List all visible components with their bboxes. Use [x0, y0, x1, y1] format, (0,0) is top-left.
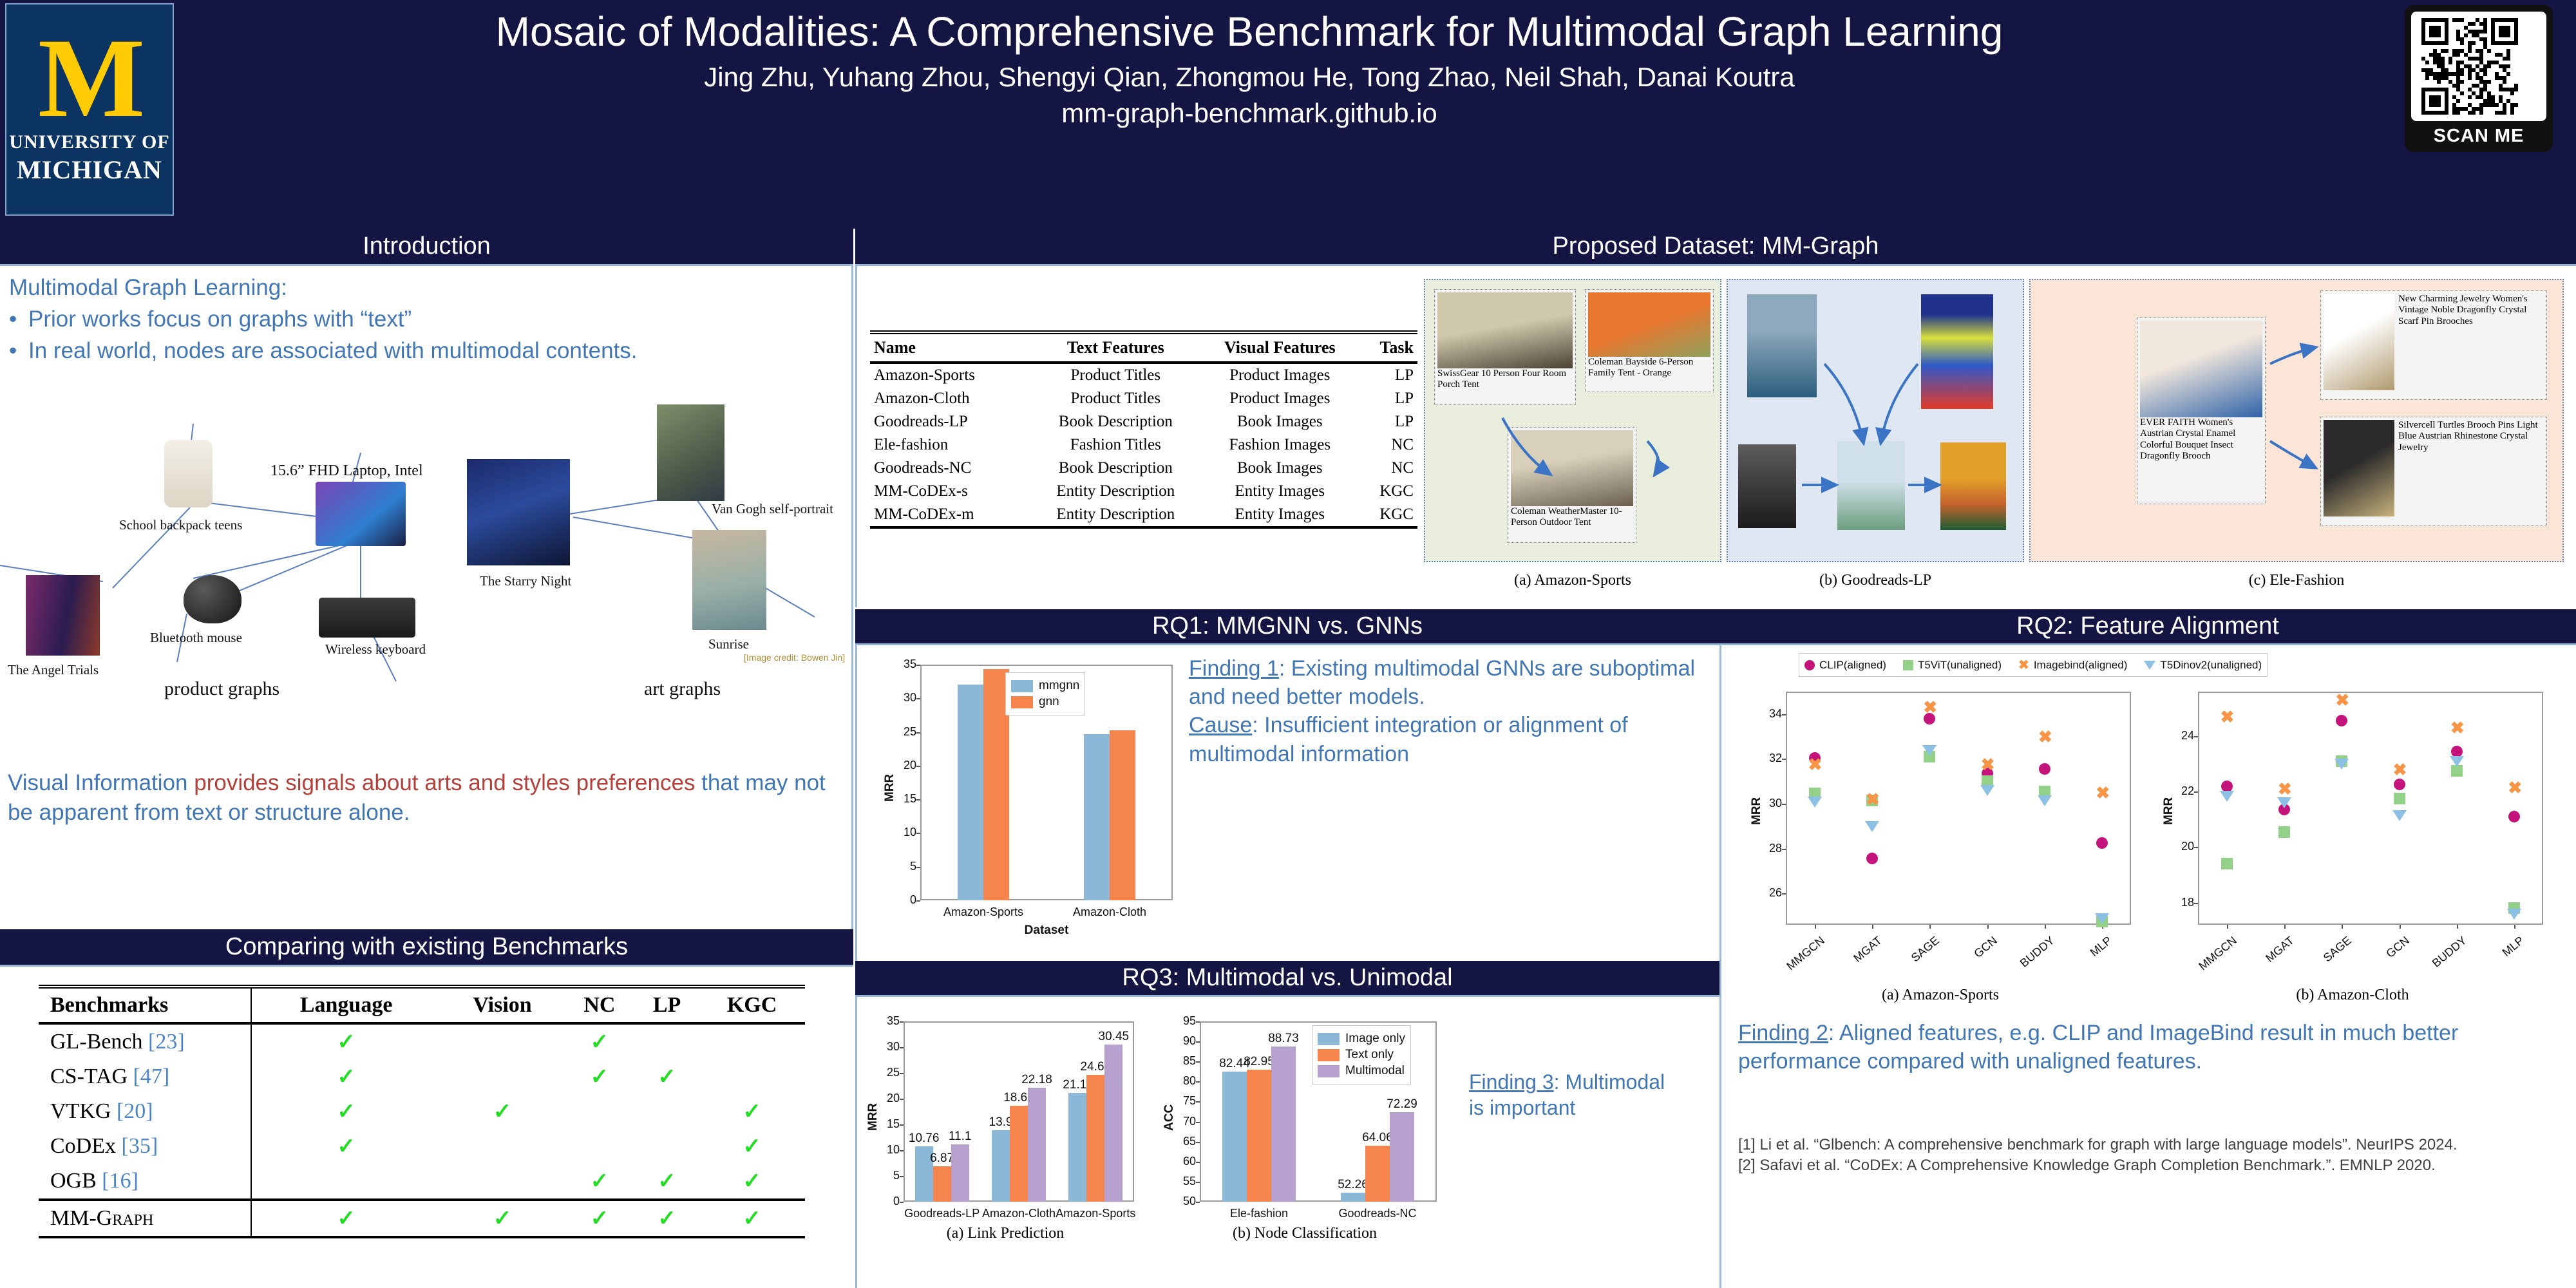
y-tick-mark — [2194, 736, 2198, 737]
table-cell-empty — [440, 1059, 564, 1094]
y-tick-mark — [900, 1047, 904, 1048]
table-cell-empty — [440, 1129, 564, 1164]
data-point-cross: ✖ — [1808, 756, 1823, 773]
x-tick-mark — [2457, 925, 2458, 929]
dataset-name: Goodreads-NC — [870, 457, 1031, 480]
node-label-starry-night: The Starry Night — [480, 573, 571, 589]
panel-caption: (a) Amazon-Sports — [1425, 572, 1720, 589]
dataset-text-features: Fashion Titles — [1031, 433, 1200, 457]
citation-ref[interactable]: [16] — [102, 1169, 138, 1193]
qr-code-icon — [2411, 12, 2546, 121]
table-row: VTKG [20] ✓✓✓ — [39, 1094, 805, 1129]
y-tick-mark — [1782, 714, 1786, 715]
bar — [951, 1144, 969, 1202]
bar — [1271, 1046, 1296, 1202]
y-tick-label: 26 — [1756, 886, 1782, 900]
intro-bullet-2: • In real world, nodes are associated wi… — [9, 337, 840, 366]
y-tick-mark — [916, 766, 920, 767]
y-tick-label: 30 — [875, 1040, 900, 1054]
table-row: CS-TAG [47] ✓✓✓ — [39, 1059, 805, 1094]
dataset-task: NC — [1359, 433, 1417, 457]
table-cell-empty — [251, 1164, 440, 1200]
col-task: Task — [1359, 332, 1417, 363]
node-image-van-gogh — [657, 404, 724, 501]
table-cell-check: ✓ — [564, 1200, 635, 1237]
check-icon: ✓ — [337, 1100, 355, 1124]
panel-caption: (b) Goodreads-LP — [1728, 572, 2023, 589]
y-tick-label: 25 — [892, 725, 916, 739]
dataset-task: KGC — [1359, 480, 1417, 503]
table-cell-empty — [440, 1023, 564, 1059]
y-axis-label: MRR — [883, 774, 897, 802]
finding-3-label: Finding 3 — [1469, 1070, 1554, 1094]
y-tick-label: 34 — [1756, 707, 1782, 721]
y-tick-mark — [1782, 804, 1786, 805]
x-tick-mark — [2342, 925, 2343, 929]
x-tick-label: GCN — [2363, 934, 2412, 978]
data-point-triangle — [2334, 759, 2349, 770]
dataset-text-features: Book Description — [1031, 410, 1200, 433]
bar — [1247, 1070, 1271, 1202]
table-row: MM-CoDEx-m Entity Description Entity Ima… — [870, 503, 1417, 527]
comparing-benchmarks-body: Benchmarks Language Vision NC LP KGC GL-… — [0, 967, 853, 1288]
dataset-task: LP — [1359, 363, 1417, 387]
bar-value-label: 30.45 — [1095, 1030, 1132, 1044]
dataset-text-features: Entity Description — [1031, 503, 1200, 527]
bullet-dot-icon: • — [9, 305, 28, 334]
dataset-text-features: Product Titles — [1031, 363, 1200, 387]
table-cell-check: ✓ — [251, 1129, 440, 1164]
panel-arrows — [1425, 280, 1720, 561]
table-bottom-rule — [870, 527, 1417, 529]
table-cell-check: ✓ — [440, 1200, 564, 1237]
dataset-task: LP — [1359, 387, 1417, 410]
bar — [1365, 1146, 1390, 1202]
table-bottom-rule — [39, 1237, 805, 1239]
y-tick-mark — [916, 698, 920, 699]
table-row: MM-CoDEx-s Entity Description Entity Ima… — [870, 480, 1417, 503]
legend-swatch — [1011, 696, 1033, 708]
rq2-legend: CLIP(aligned)T5ViT(unaligned)✖Imagebind(… — [1799, 653, 2268, 677]
node-image-laptop — [316, 482, 406, 546]
table-cell-check: ✓ — [699, 1200, 805, 1237]
bar — [1068, 1093, 1086, 1202]
benchmark-name: CoDEx [35] — [39, 1129, 251, 1164]
dataset-task: KGC — [1359, 503, 1417, 527]
data-point-cross: ✖ — [2450, 719, 2465, 736]
data-point-triangle — [1865, 821, 1879, 832]
dataset-visual-features: Product Images — [1200, 363, 1359, 387]
x-tick-label: BUDDY — [2009, 934, 2058, 978]
table-cell-empty — [564, 1129, 635, 1164]
y-tick-label: 18 — [2168, 896, 2194, 909]
dataset-name: MM-CoDEx-m — [870, 503, 1031, 527]
y-axis-label: ACC — [1162, 1104, 1177, 1131]
data-point-cross: ✖ — [1866, 791, 1880, 808]
chart-rq3-node-classification: 5055606570758085909582.4482.9588.73Ele-f… — [1166, 1010, 1443, 1242]
plot-area — [1786, 692, 2131, 925]
legend-swatch — [1318, 1033, 1340, 1045]
legend-label: Imagebind(aligned) — [2034, 659, 2128, 672]
bar — [958, 685, 983, 900]
introduction-body: Multimodal Graph Learning: • Prior works… — [0, 266, 853, 929]
table-cell-check: ✓ — [699, 1094, 805, 1129]
bar — [1390, 1112, 1414, 1202]
data-point-triangle — [2038, 795, 2052, 806]
y-tick-label: 95 — [1171, 1014, 1196, 1028]
dataset-visual-features: Book Images — [1200, 457, 1359, 480]
dataset-text-features: Product Titles — [1031, 387, 1200, 410]
table-cell-empty — [635, 1129, 699, 1164]
references-list: [1] Li et al. “Glbench: A comprehensive … — [1738, 1135, 2566, 1177]
col-name: Name — [870, 332, 1031, 363]
poster-header: M UNIVERSITY OF MICHIGAN Mosaic of Modal… — [0, 0, 2576, 229]
table-row: Amazon-Sports Product Titles Product Ima… — [870, 363, 1417, 387]
claim-part-2: provides signals about arts and styles p… — [194, 770, 701, 795]
bar — [1028, 1088, 1046, 1202]
data-point-triangle — [2277, 797, 2291, 808]
y-tick-mark — [916, 900, 920, 902]
dataset-visual-features: Fashion Images — [1200, 433, 1359, 457]
panel-arrows — [2031, 280, 2562, 561]
finding-2-text: Finding 2: Aligned features, e.g. CLIP a… — [1738, 1019, 2562, 1075]
x-tick-label: MGAT — [2249, 934, 2297, 978]
rq1-body: 05101520253035Amazon-SportsAmazon-ClothM… — [855, 645, 1719, 961]
y-tick-mark — [916, 799, 920, 800]
col-text-features: Text Features — [1031, 332, 1200, 363]
data-point-cross: ✖ — [2393, 761, 2407, 778]
col-vision: Vision — [440, 987, 564, 1023]
section-header-rq1: RQ1: MMGNN vs. GNNs — [855, 609, 1719, 645]
dataset-name: Goodreads-LP — [870, 410, 1031, 433]
table-cell-check: ✓ — [699, 1129, 805, 1164]
node-image-mouse — [184, 575, 241, 623]
chart-rq3-link-prediction: 0510152025303510.766.8711.1Goodreads-LP1… — [870, 1010, 1141, 1242]
left-column: Introduction Multimodal Graph Learning: … — [0, 229, 853, 1288]
benchmarks-table: Benchmarks Language Vision NC LP KGC GL-… — [39, 985, 805, 1239]
y-tick-mark — [1196, 1162, 1200, 1163]
citation-ref[interactable]: [47] — [133, 1065, 170, 1088]
legend-item: Multimodal — [1318, 1064, 1405, 1078]
chart-rq1-mmgnn-vs-gnn: 05101520253035Amazon-SportsAmazon-ClothM… — [883, 653, 1179, 943]
y-tick-mark — [916, 867, 920, 868]
y-tick-label: 55 — [1171, 1175, 1196, 1188]
bar — [933, 1166, 951, 1202]
chart-rq2-amazon-cloth: 18 20 22 24 MMGCN✖MGAT✖SAGE✖GCN✖BUDDY✖ML… — [2153, 684, 2552, 1006]
qr-label: SCAN ME — [2411, 121, 2546, 151]
citation-ref[interactable]: [23] — [148, 1030, 185, 1054]
data-point-cross: ✖ — [1923, 699, 1937, 715]
title-block: Mosaic of Modalities: A Comprehensive Be… — [193, 9, 2306, 129]
y-tick-mark — [1782, 893, 1786, 895]
legend-item: T5Dinov2(unaligned) — [2144, 659, 2262, 672]
data-point-cross: ✖ — [1981, 756, 1995, 773]
data-point-square — [2394, 793, 2405, 804]
x-tick-label: MGAT — [1837, 934, 1885, 978]
check-icon: ✓ — [743, 1135, 761, 1159]
check-icon: ✓ — [337, 1030, 355, 1054]
y-tick-label: 50 — [1171, 1195, 1196, 1208]
y-tick-mark — [1782, 849, 1786, 850]
y-tick-label: 35 — [892, 658, 916, 671]
y-axis-label: MRR — [2162, 797, 2176, 825]
y-tick-mark — [1196, 1021, 1200, 1023]
check-icon: ✓ — [591, 1065, 609, 1089]
check-icon: ✓ — [658, 1207, 676, 1231]
check-icon: ✓ — [658, 1065, 676, 1089]
panel-arrows — [1728, 280, 2023, 561]
dataset-task: LP — [1359, 410, 1417, 433]
dataset-name: MM-CoDEx-s — [870, 480, 1031, 503]
data-point-circle — [2394, 779, 2405, 790]
dataset-name: Amazon-Cloth — [870, 387, 1031, 410]
y-tick-label: 80 — [1171, 1074, 1196, 1088]
section-header-rq2: RQ2: Feature Alignment — [1719, 609, 2576, 645]
y-tick-label: 10 — [892, 826, 916, 839]
y-tick-label: 0 — [892, 893, 916, 907]
y-tick-mark — [900, 1021, 904, 1023]
dataset-text-features: Book Description — [1031, 457, 1200, 480]
logo-line2: MICHIGAN — [9, 155, 169, 185]
data-point-cross: ✖ — [2221, 708, 2235, 725]
y-tick-label: 60 — [1171, 1155, 1196, 1168]
poster-title: Mosaic of Modalities: A Comprehensive Be… — [193, 9, 2306, 54]
x-tick-label: GCN — [1951, 934, 2000, 978]
y-tick-label: 5 — [875, 1169, 900, 1182]
col-language: Language — [251, 987, 440, 1023]
check-icon: ✓ — [591, 1207, 609, 1231]
introduction-claim: Visual Information provides signals abou… — [8, 768, 845, 827]
table-cell-empty — [699, 1023, 805, 1059]
data-point-triangle — [2450, 756, 2464, 767]
node-image-starry-night — [467, 459, 570, 565]
col-visual-features: Visual Features — [1200, 332, 1359, 363]
x-tick-label: Amazon-Sports — [1046, 1207, 1146, 1220]
legend-item: Image only — [1318, 1032, 1405, 1046]
dataset-panel-ele-fashion: EVER FAITH Women's Austrian Crystal Enam… — [2029, 279, 2564, 562]
data-point-cross: ✖ — [2508, 779, 2522, 796]
legend-swatch — [1011, 680, 1033, 692]
dataset-visual-features: Entity Images — [1200, 503, 1359, 527]
x-tick-mark — [2227, 925, 2228, 929]
poster-authors: Jing Zhu, Yuhang Zhou, Shengyi Qian, Zho… — [193, 62, 2306, 93]
table-cell-empty — [699, 1059, 805, 1094]
x-tick-label: SAGE — [2306, 934, 2354, 978]
section-header-introduction: Introduction — [0, 229, 853, 266]
node-label-backpack: School backpack teens — [119, 517, 242, 533]
legend-marker-circle — [1804, 660, 1815, 670]
y-tick-mark — [900, 1124, 904, 1126]
data-point-triangle — [2392, 810, 2407, 821]
node-image-keyboard — [319, 598, 415, 638]
data-point-triangle — [2095, 913, 2109, 924]
y-axis-label: MRR — [1750, 797, 1764, 825]
table-cell-check: ✓ — [251, 1023, 440, 1059]
bar-value-label: 11.1 — [942, 1130, 978, 1144]
data-point-circle — [2039, 763, 2050, 775]
bullet-dot-icon: • — [9, 337, 28, 366]
legend-marker-cross: ✖ — [2018, 657, 2029, 673]
chart-legend: mmgnn gnn — [1005, 672, 1085, 715]
university-logo: M UNIVERSITY OF MICHIGAN — [5, 3, 174, 216]
rq2-body: CLIP(aligned)T5ViT(unaligned)✖Imagebind(… — [1719, 645, 2576, 1288]
legend-marker-square — [1903, 660, 1913, 670]
legend-label: CLIP(aligned) — [1819, 659, 1886, 672]
michigan-m-icon: M — [38, 29, 141, 129]
table-row: OGB [16] ✓✓✓ — [39, 1164, 805, 1200]
node-label-angel-trials: The Angel Trials — [8, 662, 99, 678]
finding-2-label: Finding 2 — [1738, 1021, 1828, 1045]
y-tick-mark — [900, 1099, 904, 1100]
y-tick-mark — [916, 665, 920, 666]
cause-label: Cause — [1189, 713, 1252, 737]
x-tick-mark — [1929, 925, 1931, 929]
table-cell-check: ✓ — [564, 1164, 635, 1200]
legend-item: mmgnn — [1011, 679, 1079, 693]
dataset-name: Amazon-Sports — [870, 363, 1031, 387]
node-image-sunrise — [692, 530, 766, 630]
data-point-cross: ✖ — [2096, 784, 2110, 801]
qr-code-block[interactable]: SCAN ME — [2405, 5, 2553, 152]
legend-label: mmgnn — [1039, 679, 1079, 693]
table-row: Goodreads-LP Book Description Book Image… — [870, 410, 1417, 433]
col-benchmarks: Benchmarks — [39, 987, 251, 1023]
table-cell-empty — [564, 1094, 635, 1129]
y-tick-label: 0 — [875, 1195, 900, 1208]
citation-ref[interactable]: [35] — [122, 1134, 158, 1158]
check-icon: ✓ — [493, 1207, 512, 1231]
table-row-highlight: MM-Graph ✓✓✓✓✓ — [39, 1200, 805, 1237]
bar-value-label: 88.73 — [1262, 1032, 1305, 1046]
table-cell-check: ✓ — [699, 1164, 805, 1200]
y-tick-label: 90 — [1171, 1034, 1196, 1048]
intro-bullet-1: • Prior works focus on graphs with “text… — [9, 305, 840, 334]
section-header-comparing: Comparing with existing Benchmarks — [0, 929, 853, 967]
y-tick-mark — [1196, 1101, 1200, 1103]
plot-area — [2198, 692, 2543, 925]
table-cell-empty — [440, 1164, 564, 1200]
y-tick-label: 65 — [1171, 1135, 1196, 1148]
legend-label: Image only — [1345, 1032, 1405, 1046]
dataset-task: NC — [1359, 457, 1417, 480]
y-tick-mark — [2194, 791, 2198, 793]
multimodal-graph-illustration: The Angel Trials School backpack teens 1… — [0, 404, 853, 765]
y-tick-label: 22 — [2168, 784, 2194, 798]
table-row: GL-Bench [23] ✓✓ — [39, 1023, 805, 1059]
x-tick-mark — [1815, 925, 1816, 929]
table-row: Amazon-Cloth Product Titles Product Imag… — [870, 387, 1417, 410]
x-tick-label: MLP — [2067, 934, 2115, 978]
legend-marker-triangle — [2144, 661, 2155, 670]
legend-label: Text only — [1345, 1048, 1394, 1062]
table-cell-check: ✓ — [251, 1059, 440, 1094]
legend-label: T5ViT(unaligned) — [1918, 659, 2002, 672]
poster-url: mm-graph-benchmark.github.io — [193, 98, 2306, 129]
dataset-visual-features: Book Images — [1200, 410, 1359, 433]
node-label-laptop: 15.6” FHD Laptop, Intel — [270, 462, 423, 480]
bar — [1110, 730, 1135, 900]
node-label-keyboard: Wireless keyboard — [325, 641, 426, 658]
reference-2: [2] Safavi et al. “CoDEx: A Comprehensiv… — [1738, 1155, 2566, 1176]
benchmark-name: CS-TAG [47] — [39, 1059, 251, 1094]
x-tick-mark — [2514, 925, 2515, 929]
y-tick-mark — [2194, 903, 2198, 904]
y-tick-mark — [900, 1073, 904, 1074]
y-tick-mark — [916, 833, 920, 834]
bar — [1010, 1106, 1028, 1202]
chart-caption: (b) Amazon-Cloth — [2153, 987, 2552, 1004]
dataset-visual-features: Product Images — [1200, 387, 1359, 410]
dataset-table: Name Text Features Visual Features Task … — [870, 330, 1417, 529]
bar — [992, 1130, 1010, 1202]
y-tick-label: 20 — [892, 759, 916, 772]
chart-caption: (a) Amazon-Sports — [1741, 987, 2140, 1004]
check-icon: ✓ — [337, 1135, 355, 1159]
y-tick-label: 32 — [1756, 752, 1782, 765]
y-tick-mark — [1196, 1142, 1200, 1143]
y-tick-mark — [1196, 1041, 1200, 1043]
legend-item: T5ViT(unaligned) — [1903, 659, 2002, 672]
bar — [1222, 1072, 1247, 1202]
x-tick-label: MMGCN — [2191, 934, 2239, 978]
node-image-angel-trials — [26, 575, 100, 656]
y-tick-mark — [1196, 1061, 1200, 1063]
x-tick-label: SAGE — [1894, 934, 1942, 978]
chart-rq2-amazon-sports: 26 28 30 32 34 MMGCN✖MGAT✖SAGE✖GCN✖BUDDY… — [1741, 684, 2140, 1006]
section-header-dataset: Proposed Dataset: MM-Graph — [855, 229, 2576, 266]
x-tick-label: Goodreads-NC — [1307, 1207, 1448, 1220]
y-tick-label: 10 — [875, 1143, 900, 1157]
reference-1: [1] Li et al. “Glbench: A comprehensive … — [1738, 1135, 2566, 1155]
data-point-triangle — [1808, 797, 1822, 808]
bar-value-label: 10.76 — [906, 1132, 942, 1146]
x-tick-label: Amazon-Cloth — [1035, 905, 1184, 919]
y-tick-mark — [900, 1150, 904, 1151]
check-icon: ✓ — [743, 1170, 761, 1193]
legend-swatch — [1318, 1049, 1340, 1061]
table-row: Goodreads-NC Book Description Book Image… — [870, 457, 1417, 480]
data-point-cross: ✖ — [2278, 781, 2292, 797]
check-icon: ✓ — [337, 1065, 355, 1089]
x-tick-label: MLP — [2479, 934, 2527, 978]
y-tick-label: 25 — [875, 1066, 900, 1079]
citation-ref[interactable]: [20] — [117, 1099, 153, 1123]
bar — [1086, 1075, 1104, 1202]
table-cell-empty — [635, 1023, 699, 1059]
chart-caption: (a) Link Prediction — [870, 1225, 1141, 1242]
y-tick-mark — [1196, 1182, 1200, 1183]
table-cell-check: ✓ — [251, 1094, 440, 1129]
y-tick-mark — [1196, 1202, 1200, 1203]
legend-item: gnn — [1011, 695, 1079, 709]
y-tick-label: 20 — [2168, 840, 2194, 853]
y-tick-mark — [1196, 1081, 1200, 1083]
table-cell-empty — [635, 1094, 699, 1129]
finding-3-text: Finding 3: Multimodal is important — [1469, 1069, 1681, 1121]
table-header-row: Name Text Features Visual Features Task — [870, 332, 1417, 363]
introduction-text: Multimodal Graph Learning: • Prior works… — [9, 274, 840, 365]
bar — [1341, 1193, 1365, 1202]
legend-item: Text only — [1318, 1048, 1405, 1062]
data-point-triangle — [1922, 745, 1937, 756]
finding-1-label: Finding 1 — [1189, 656, 1279, 681]
panel-caption: (c) Ele-Fashion — [2031, 572, 2562, 589]
check-icon: ✓ — [743, 1207, 761, 1231]
dataset-panel-amazon-sports: SwissGear 10 Person Four Room Porch Tent… — [1424, 279, 1721, 562]
y-tick-mark — [1782, 759, 1786, 760]
data-point-cross: ✖ — [2038, 728, 2052, 745]
check-icon: ✓ — [591, 1030, 609, 1054]
